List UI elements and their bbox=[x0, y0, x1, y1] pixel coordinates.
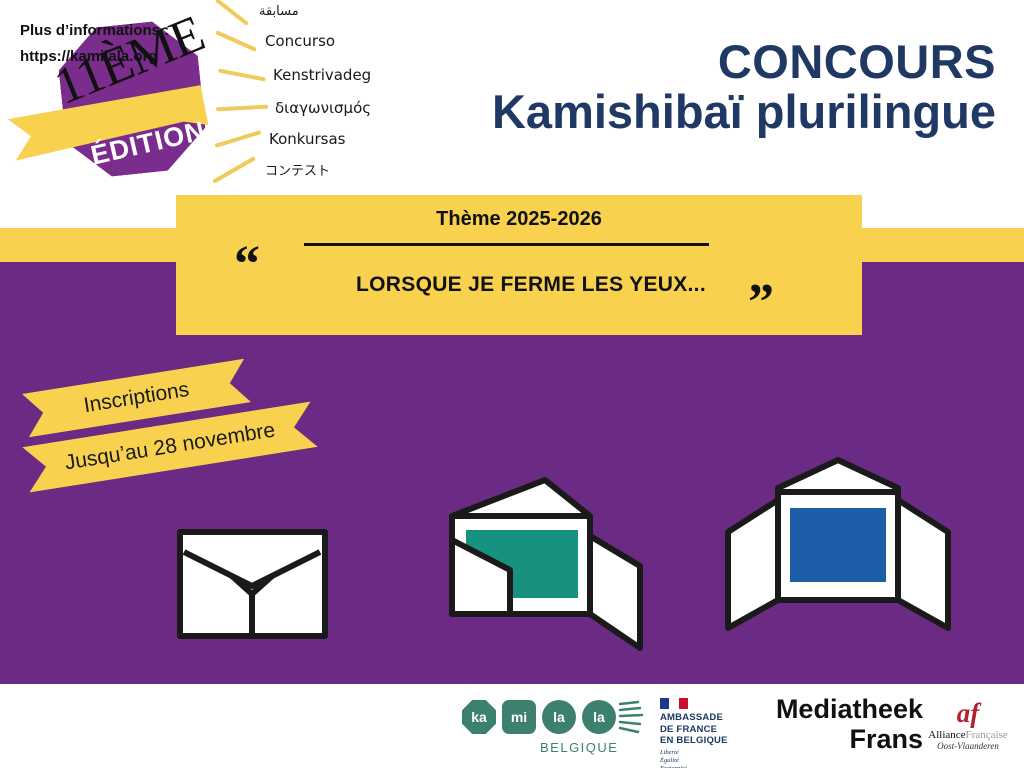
mediatheek-line-2: Frans bbox=[748, 724, 923, 754]
kamilala-rays-icon bbox=[618, 700, 650, 736]
motto-liberte: Liberté bbox=[660, 749, 750, 757]
language-item-japanese: コンテスト bbox=[210, 160, 330, 179]
ray-line-icon bbox=[212, 156, 256, 183]
kamishibai-illustrations bbox=[0, 440, 1024, 680]
language-word: مسابقة bbox=[259, 4, 299, 19]
language-item-greek: διαγωνισμός bbox=[216, 99, 371, 117]
language-item-spanish: Concurso bbox=[214, 32, 335, 50]
theater-open-icon bbox=[728, 460, 948, 628]
theaters-svg bbox=[0, 440, 1024, 680]
alliance-francaise-logo: af AllianceFrançaise Oost-Vlaanderen bbox=[918, 700, 1018, 751]
theme-divider bbox=[304, 243, 709, 246]
language-word: Concurso bbox=[265, 32, 335, 50]
title-kamishibai-plurilingue: Kamishibaï plurilingue bbox=[492, 86, 996, 139]
ray-line-icon bbox=[216, 105, 268, 112]
ambassade-line-3: EN BELGIQUE bbox=[660, 735, 750, 747]
kamilala-url[interactable]: https://kamilala.org bbox=[20, 44, 169, 70]
language-item-lithuanian: Konkursas bbox=[214, 130, 346, 148]
af-monogram-icon: af bbox=[918, 700, 1018, 727]
title-concours: CONCOURS bbox=[492, 38, 996, 86]
motto-egalite: Égalité bbox=[660, 757, 750, 765]
ambassade-line-2: DE FRANCE bbox=[660, 724, 750, 736]
language-word: Kenstrivadeg bbox=[273, 66, 371, 84]
ray-line-icon bbox=[215, 30, 257, 52]
mediatheek-line-1: Mediatheek bbox=[748, 694, 923, 724]
kamilala-cell-la1: la bbox=[542, 700, 576, 734]
multilingual-words-group: مسابقة Concurso Kenstrivadeg διαγωνισμός… bbox=[196, 0, 426, 190]
mediatheek-frans-logo: Mediatheek Frans bbox=[748, 694, 923, 754]
language-word: コンテスト bbox=[265, 160, 330, 179]
quote-close-mark: ” bbox=[748, 277, 774, 329]
kamilala-cell-mi: mi bbox=[502, 700, 536, 734]
theater-half-open-icon bbox=[452, 480, 640, 648]
alliance-name-bold: Alliance bbox=[928, 729, 965, 741]
more-info-label: Plus d’informations : bbox=[20, 18, 169, 44]
ray-line-icon bbox=[214, 130, 261, 148]
kamilala-logo: ka mi la la BELGIQUE bbox=[462, 700, 632, 762]
alliance-name-light: Française bbox=[966, 729, 1008, 741]
language-item-breton: Kenstrivadeg bbox=[218, 66, 371, 84]
registration-label: Inscriptions bbox=[82, 378, 191, 418]
theme-year-label: Thème 2025-2026 bbox=[176, 208, 862, 231]
theater-closed-icon bbox=[180, 532, 325, 636]
theme-panel: Thème 2025-2026 “ LORSQUE JE FERME LES Y… bbox=[176, 195, 862, 335]
kamilala-cell-ka: ka bbox=[462, 700, 496, 734]
ambassade-line-1: AMBASSADE bbox=[660, 712, 750, 724]
page-title: CONCOURS Kamishibaï plurilingue bbox=[492, 38, 996, 139]
ray-line-icon bbox=[218, 68, 266, 81]
poster-canvas: 11ÈME ÉDITION مسابقة Concurso Kenstrivad… bbox=[0, 0, 1024, 768]
ambassade-de-france-logo: AMBASSADE DE FRANCE EN BELGIQUE Liberté … bbox=[660, 698, 750, 762]
kamilala-cell-la2: la bbox=[582, 700, 616, 734]
language-word: Konkursas bbox=[269, 130, 346, 148]
french-flag-icon bbox=[660, 698, 688, 709]
kamilala-country-label: BELGIQUE bbox=[540, 740, 618, 755]
ray-line-icon bbox=[215, 0, 249, 25]
language-word: διαγωνισμός bbox=[275, 99, 371, 117]
alliance-region: Oost-Vlaanderen bbox=[918, 741, 1018, 751]
more-info-block: Plus d’informations : https://kamilala.o… bbox=[20, 18, 169, 71]
language-item-arabic: مسابقة bbox=[218, 4, 299, 19]
